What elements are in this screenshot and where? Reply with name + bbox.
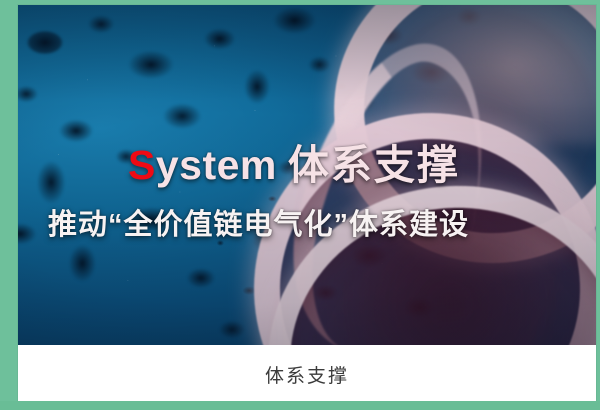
hero-subtitle: 推动“全价值链电气化”体系建设 bbox=[48, 201, 469, 243]
bottom-white-strip bbox=[0, 410, 600, 418]
hero-title: System体系支撑 bbox=[128, 131, 460, 191]
content-card: System体系支撑 推动“全价值链电气化”体系建设 体系支撑 bbox=[18, 5, 596, 404]
hero-banner[interactable]: System体系支撑 推动“全价值链电气化”体系建设 bbox=[18, 5, 596, 345]
bottom-accent-bar bbox=[0, 401, 600, 410]
hero-title-latin: ystem bbox=[156, 142, 277, 188]
hero-title-cn: 体系支撑 bbox=[288, 142, 460, 188]
caption-label: 体系支撑 bbox=[265, 361, 349, 388]
hero-title-accent: S bbox=[128, 142, 156, 188]
page-root: System体系支撑 推动“全价值链电气化”体系建设 体系支撑 bbox=[0, 0, 600, 418]
hero-text-overlay: System体系支撑 推动“全价值链电气化”体系建设 bbox=[18, 5, 596, 345]
caption-area[interactable]: 体系支撑 bbox=[18, 345, 596, 404]
